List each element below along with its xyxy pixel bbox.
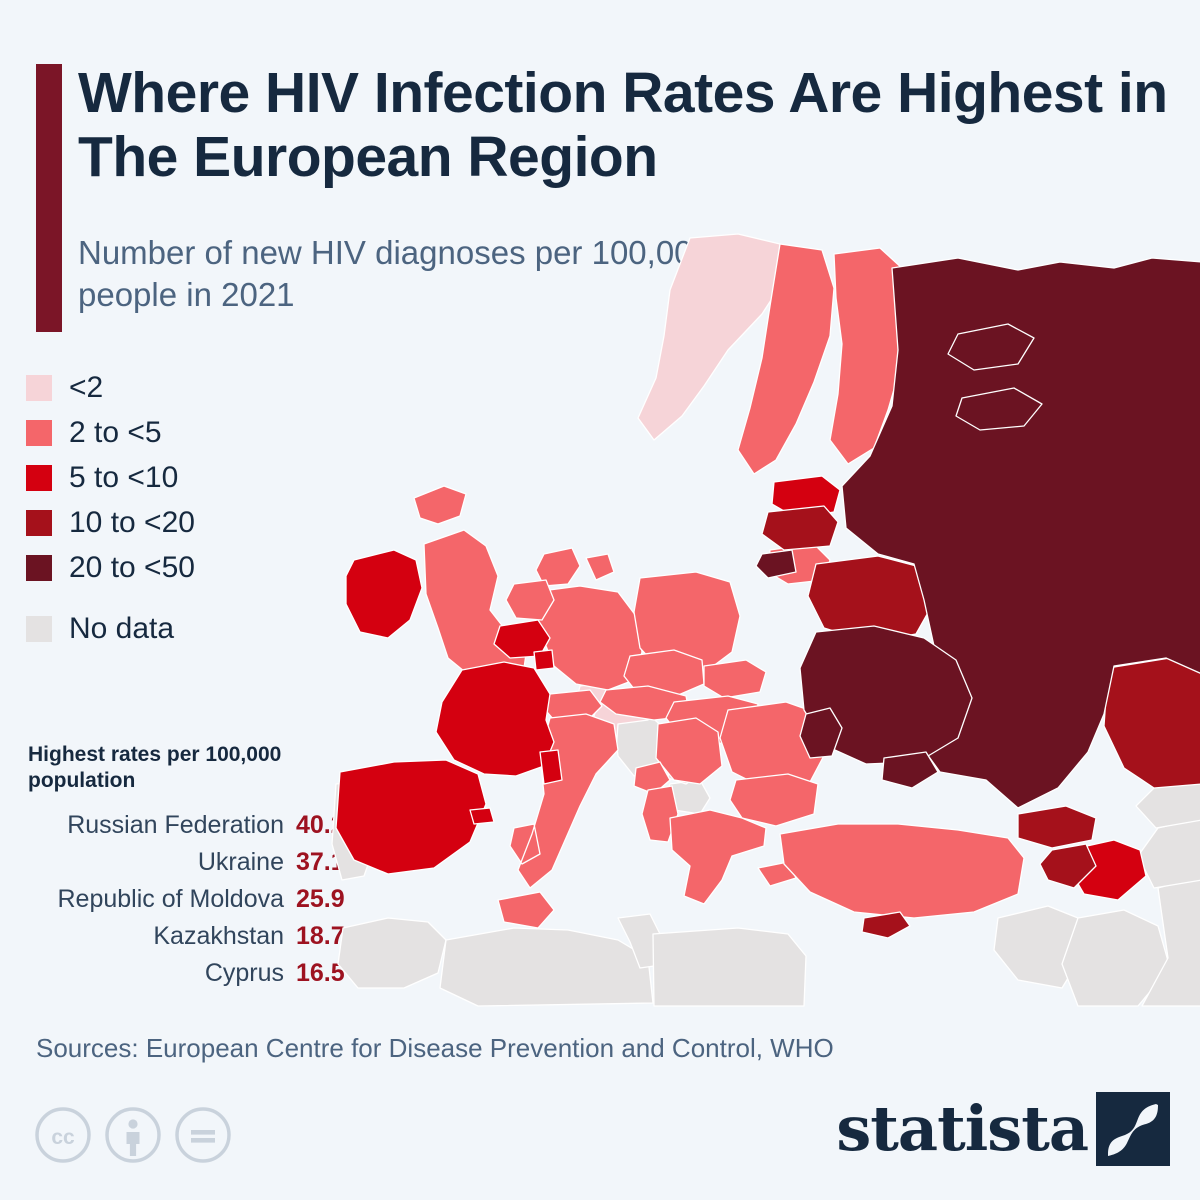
country-kazakhstan [1104, 658, 1200, 788]
legend-label-2to5: 2 to <5 [69, 418, 162, 448]
legend-label-lt2: <2 [69, 373, 103, 403]
rank-row: Cyprus 16.5 [28, 959, 358, 996]
legend-label-10to20: 10 to <20 [69, 508, 195, 538]
country-algeria [440, 928, 653, 1006]
country-ireland [346, 550, 422, 638]
rank-row: Russian Federation 40.2 [28, 811, 358, 848]
legend-swatch-no-data [26, 616, 52, 642]
country-balearics [470, 808, 494, 824]
country-morocco [338, 918, 446, 988]
legend-label-no-data: No data [69, 614, 174, 644]
cc-by-icon[interactable] [104, 1106, 162, 1164]
legend-label-20to50: 20 to <50 [69, 553, 195, 583]
statista-wordmark: statista [836, 1098, 1088, 1160]
legend-label-5to10: 5 to <10 [69, 463, 178, 493]
rank-row: Republic of Moldova 25.9 [28, 885, 358, 922]
legend-swatch-5to10 [26, 465, 52, 491]
legend-swatch-lt2 [26, 375, 52, 401]
legend-item-2: 5 to <10 [26, 455, 326, 500]
sources-text: Sources: European Centre for Disease Pre… [36, 1033, 834, 1064]
infographic-root: Where HIV Infection Rates Are Highest in… [0, 0, 1200, 1200]
svg-text:cc: cc [51, 1126, 75, 1149]
country-spain [336, 760, 486, 874]
country-turkmenistan [1138, 818, 1200, 888]
statista-logo-mark [1096, 1092, 1170, 1166]
country-corsica [540, 750, 562, 784]
cc-icon[interactable]: cc [34, 1106, 92, 1164]
legend-item-3: 10 to <20 [26, 500, 326, 545]
choropleth-map [318, 228, 1200, 1012]
rank-country: Ukraine [198, 848, 284, 877]
rank-country: Russian Federation [67, 811, 284, 840]
rank-country: Kazakhstan [153, 922, 284, 951]
highest-rates-panel: Highest rates per 100,000 population Rus… [28, 742, 358, 996]
cc-nd-icon[interactable] [174, 1106, 232, 1164]
page-title: Where HIV Infection Rates Are Highest in… [78, 62, 1188, 190]
legend-item-4: 20 to <50 [26, 545, 326, 590]
country-latvia [762, 506, 838, 550]
map-legend: <2 2 to <5 5 to <10 10 to <20 20 to <50 … [26, 365, 326, 651]
europe-map-svg [318, 228, 1200, 1012]
country-luxembourg [534, 650, 554, 670]
country-turkiye [780, 824, 1024, 918]
legend-swatch-10to20 [26, 510, 52, 536]
legend-item-0: <2 [26, 365, 326, 410]
country-cyprus [862, 912, 910, 938]
country-slovakia [704, 660, 766, 698]
country-libya [653, 928, 806, 1006]
rank-row: Ukraine 37.1 [28, 848, 358, 885]
rank-row: Kazakhstan 18.7 [28, 922, 358, 959]
statista-logo[interactable]: statista [836, 1092, 1170, 1166]
country-kaliningrad [756, 550, 796, 578]
country-georgia [1018, 806, 1096, 848]
highest-rates-title: Highest rates per 100,000 population [28, 742, 358, 795]
country-france [436, 662, 554, 776]
creative-commons-icons: cc [34, 1106, 232, 1164]
country-denmark [536, 548, 614, 586]
rank-country: Cyprus [205, 959, 284, 988]
legend-swatch-20to50 [26, 555, 52, 581]
country-crimea [882, 752, 938, 788]
legend-item-1: 2 to <5 [26, 410, 326, 455]
legend-item-nodata: No data [26, 606, 326, 651]
title-accent-bar [36, 64, 62, 332]
rank-country: Republic of Moldova [57, 885, 284, 914]
legend-swatch-2to5 [26, 420, 52, 446]
